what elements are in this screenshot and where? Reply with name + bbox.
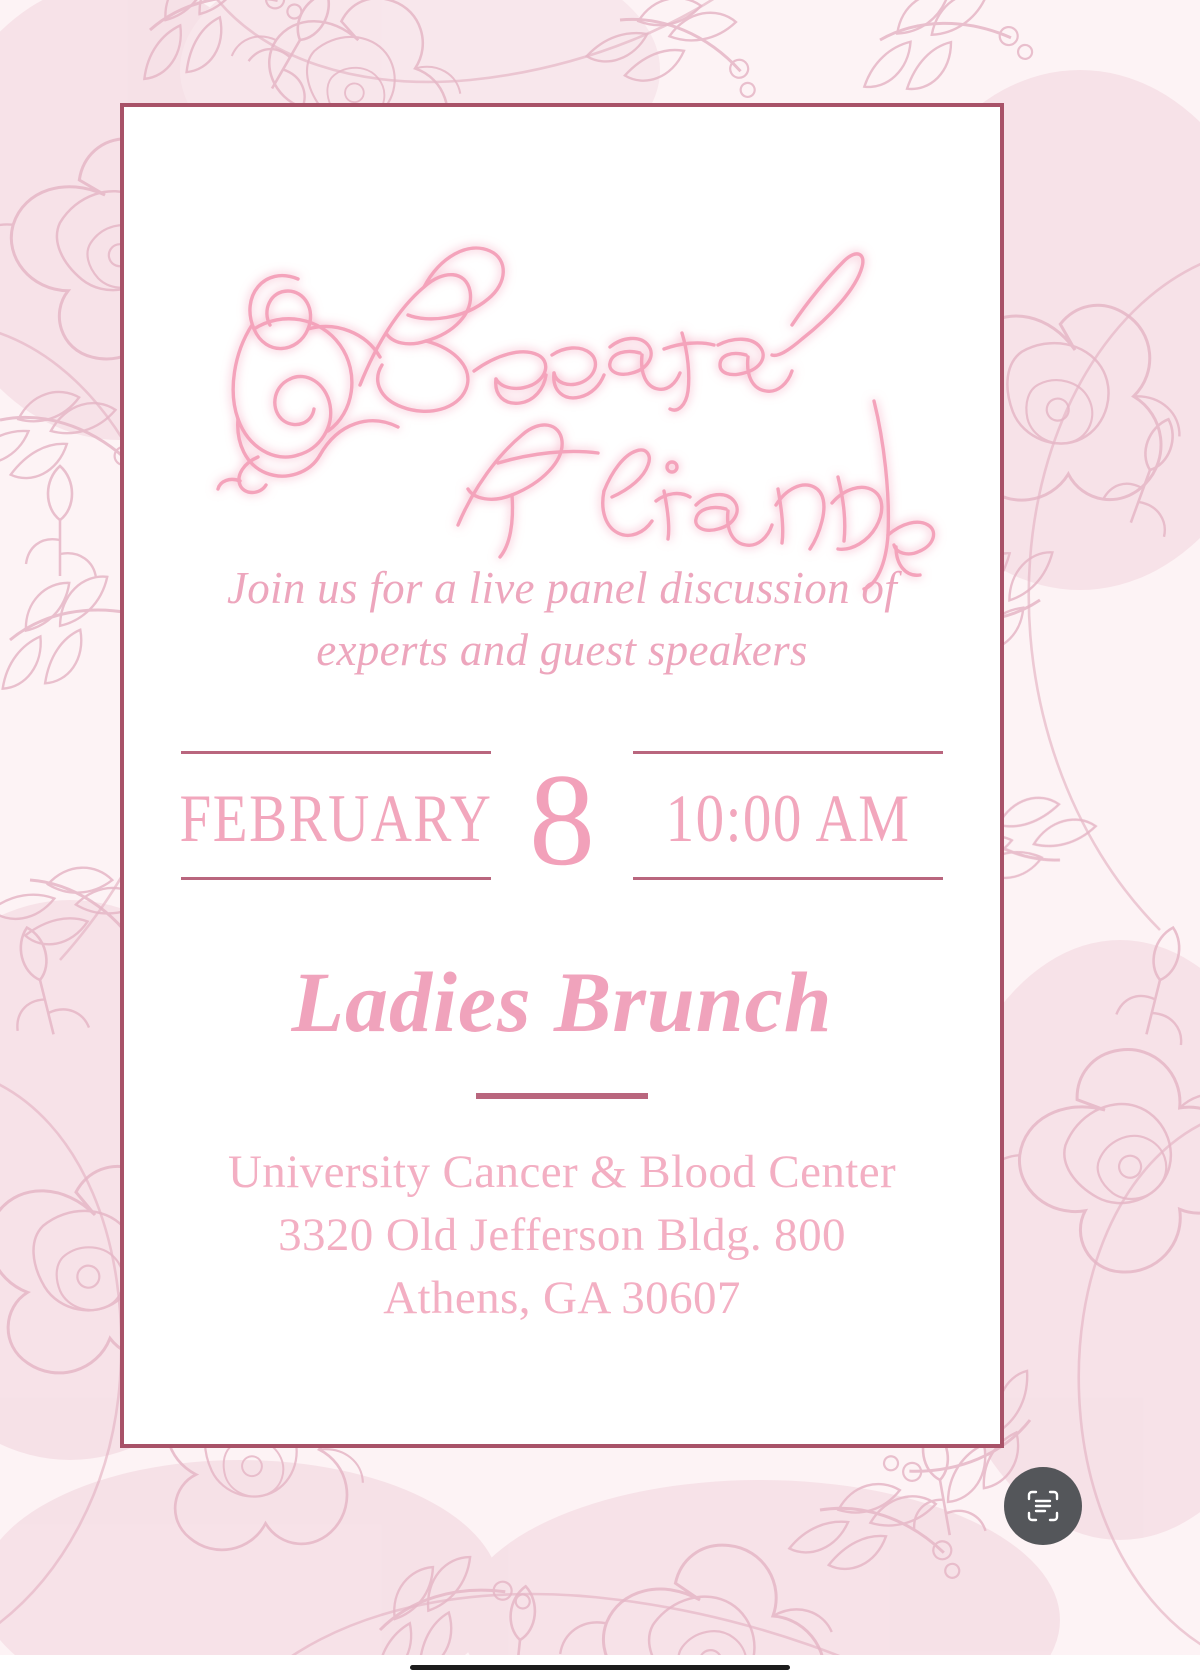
home-indicator[interactable] [410,1665,790,1670]
system-nav-bar [0,1655,1200,1677]
document-scan-button[interactable] [1004,1467,1082,1545]
month-column: FEBRUARY [181,751,491,880]
venue-name: University Cancer & Blood Center [228,1141,896,1204]
venue-city-state-zip: Athens, GA 30607 [228,1267,896,1330]
event-day: 8 [492,759,632,880]
event-month: FEBRUARY [180,743,493,888]
venue-address: University Cancer & Blood Center 3320 Ol… [228,1141,896,1330]
venue-street: 3320 Old Jefferson Bldg. 800 [228,1204,896,1267]
invitation-screen: Join us for a live panel discussion of e… [0,0,1200,1677]
time-column: 10:00 AM [633,751,943,880]
title-divider [476,1093,648,1099]
date-time-block: FEBRUARY 8 10:00 AM [181,751,943,880]
event-subtitle: Join us for a live panel discussion of e… [182,557,942,681]
subtitle-line-1: Join us for a live panel discussion of [227,563,897,613]
event-title: Ladies Brunch [291,959,832,1045]
document-scan-icon [1023,1486,1063,1526]
breast-friends-logo [212,205,912,495]
invitation-card: Join us for a live panel discussion of e… [120,103,1004,1448]
subtitle-line-2: experts and guest speakers [182,619,942,681]
event-time: 10:00 AM [666,743,911,888]
